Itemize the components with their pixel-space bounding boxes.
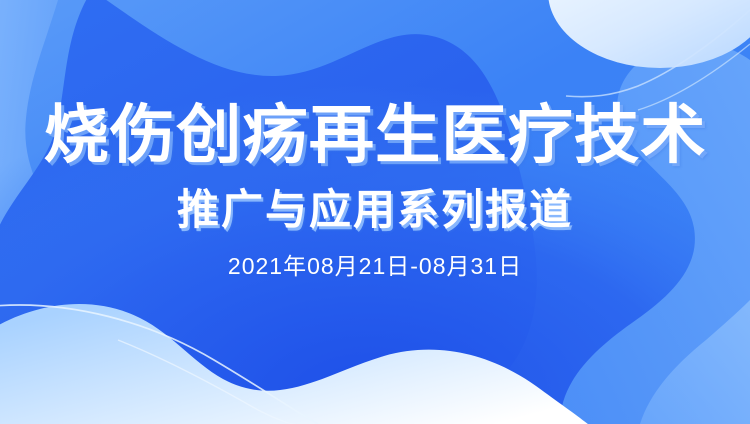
banner-content: 烧伤创疡再生医疗技术 推广与应用系列报道 2021年08月21日-08月31日 (0, 0, 750, 424)
banner-date-range: 2021年08月21日-08月31日 (228, 255, 522, 278)
banner-subtitle: 推广与应用系列报道 (177, 189, 573, 231)
banner-main-title: 烧伤创疡再生医疗技术 (44, 103, 707, 167)
event-banner: 烧伤创疡再生医疗技术 推广与应用系列报道 2021年08月21日-08月31日 (0, 0, 750, 424)
